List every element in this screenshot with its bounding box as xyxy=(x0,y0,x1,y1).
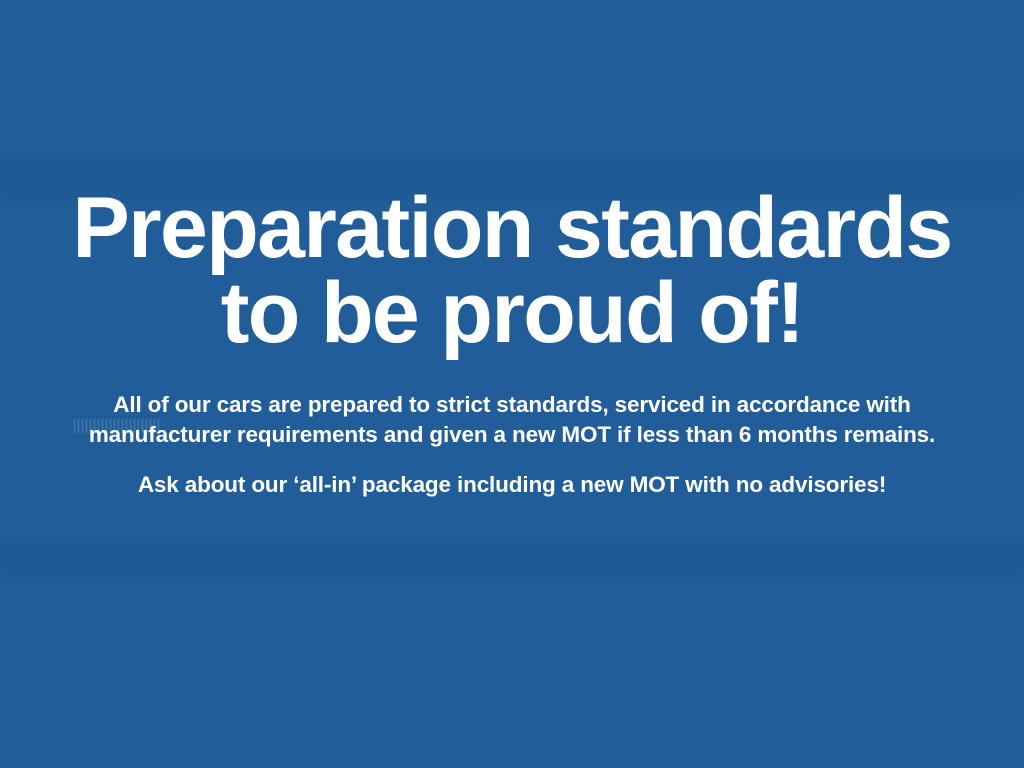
headline-line-2: to be proud of! xyxy=(42,271,982,356)
slide-content: Preparation standards to be proud of! Al… xyxy=(0,0,1024,768)
slide-body: All of our cars are prepared to strict s… xyxy=(69,390,955,499)
body-paragraph-all-in-package-offer: Ask about our ‘all-in’ package including… xyxy=(69,470,955,499)
body-paragraph-preparation-details: All of our cars are prepared to strict s… xyxy=(72,390,952,449)
slide-headline: Preparation standards to be proud of! xyxy=(42,186,982,356)
slide-canvas: Preparation standards to be proud of! Al… xyxy=(0,0,1024,768)
headline-line-1: Preparation standards xyxy=(42,186,982,271)
